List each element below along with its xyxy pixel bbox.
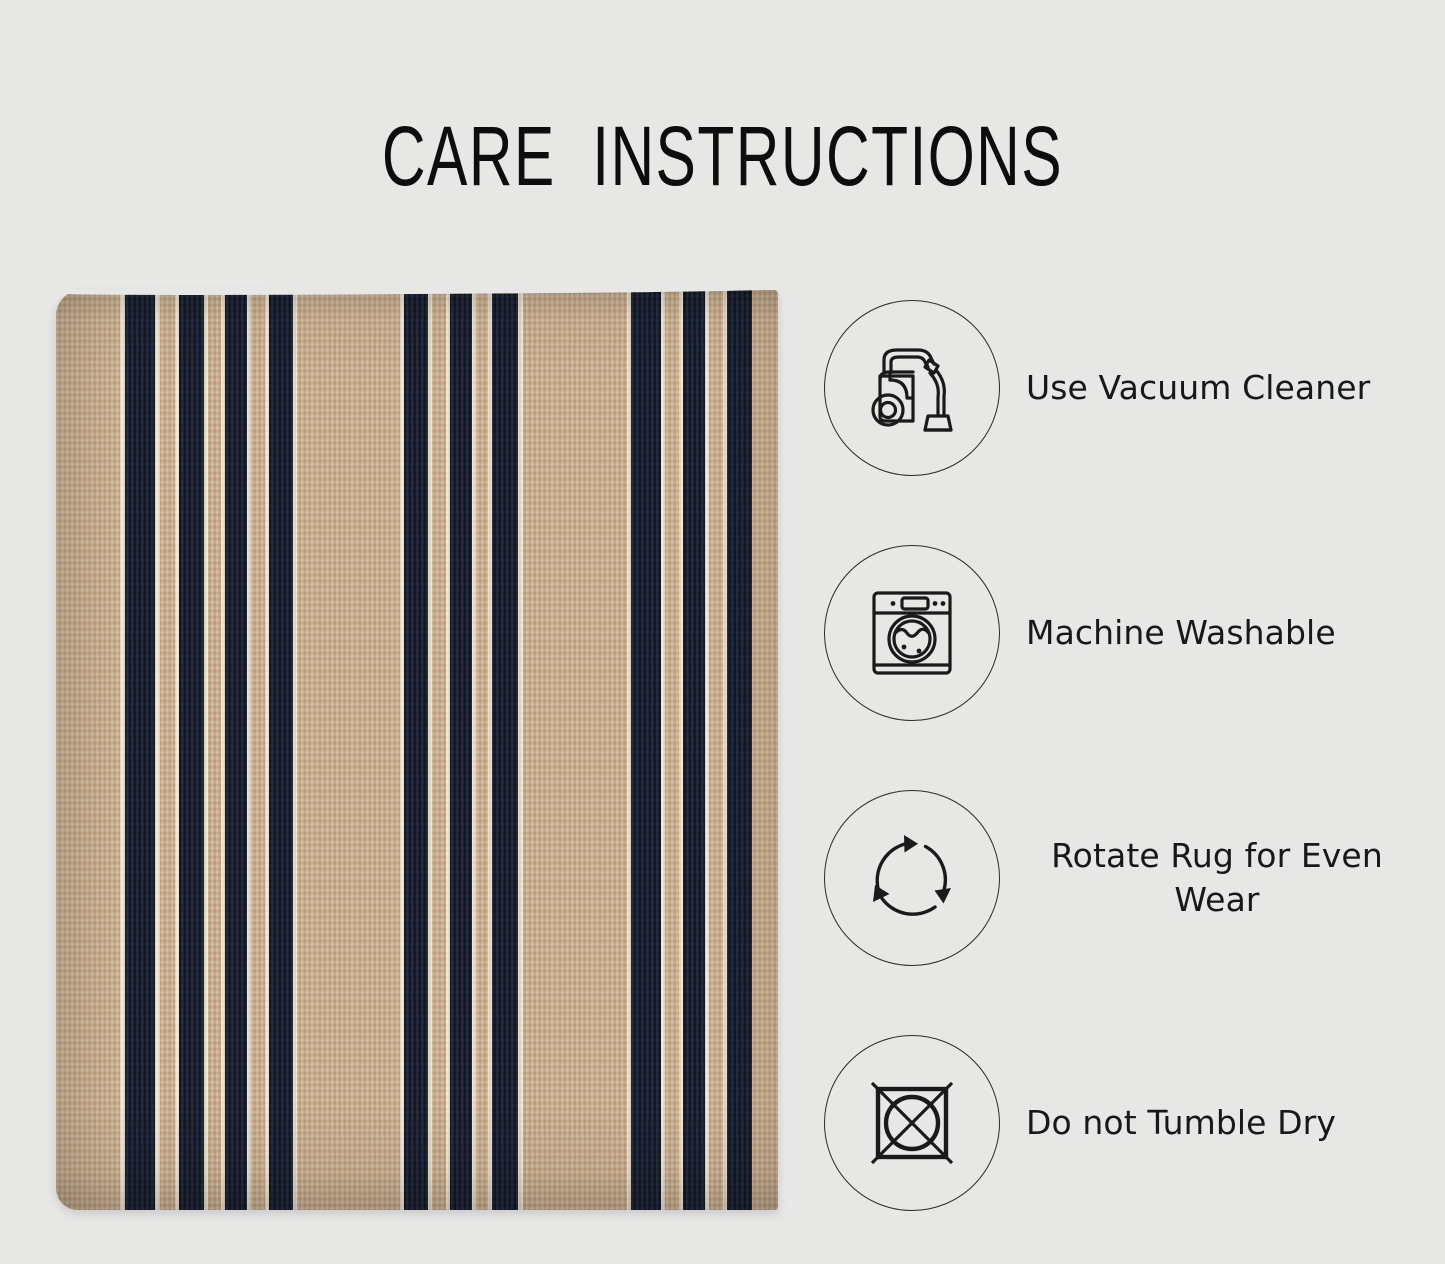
- rug-stripe: [208, 290, 221, 1210]
- rug-stripe: [476, 290, 488, 1210]
- rug-stripe: [523, 290, 627, 1210]
- rug-stripe: [665, 290, 679, 1210]
- rug-product-image: [56, 290, 778, 1210]
- care-item-machine-washable: Machine Washable: [824, 545, 1424, 721]
- rug-surface: [56, 290, 778, 1210]
- rotate-arrows-icon: [824, 790, 1000, 966]
- washing-machine-icon: [824, 545, 1000, 721]
- rug-stripe: [225, 290, 247, 1210]
- care-item-label: Do not Tumble Dry: [1000, 1101, 1424, 1145]
- care-item-label: Rotate Rug for Even Wear: [1000, 834, 1424, 922]
- care-item-label: Use Vacuum Cleaner: [1000, 366, 1424, 410]
- care-item-rotate-rug: Rotate Rug for Even Wear: [824, 790, 1424, 966]
- rug-stripe: [125, 290, 155, 1210]
- rug-stripe: [492, 290, 518, 1210]
- rug-stripe: [269, 290, 293, 1210]
- rug-stripe: [56, 290, 120, 1210]
- care-item-do-not-tumble-dry: Do not Tumble Dry: [824, 1035, 1424, 1211]
- care-item-vacuum: Use Vacuum Cleaner: [824, 300, 1424, 476]
- care-item-label: Machine Washable: [1000, 611, 1424, 655]
- rug-stripe: [179, 290, 204, 1210]
- care-instructions-page: CARE INSTRUCTIONS: [0, 0, 1445, 1264]
- rug-stripe: [752, 290, 778, 1210]
- rug-stripe: [727, 290, 752, 1210]
- rug-stripe: [631, 290, 661, 1210]
- page-title: CARE INSTRUCTIONS: [202, 108, 1242, 204]
- rug-stripe: [297, 290, 400, 1210]
- rug-stripe: [450, 290, 472, 1210]
- rug-stripe: [160, 290, 175, 1210]
- vacuum-cleaner-icon: [824, 300, 1000, 476]
- rug-stripe: [709, 290, 723, 1210]
- rug-stripe: [432, 290, 446, 1210]
- rug-stripe: [404, 290, 428, 1210]
- rug-stripe: [251, 290, 265, 1210]
- do-not-tumble-dry-icon: [824, 1035, 1000, 1211]
- rug-stripe: [683, 290, 705, 1210]
